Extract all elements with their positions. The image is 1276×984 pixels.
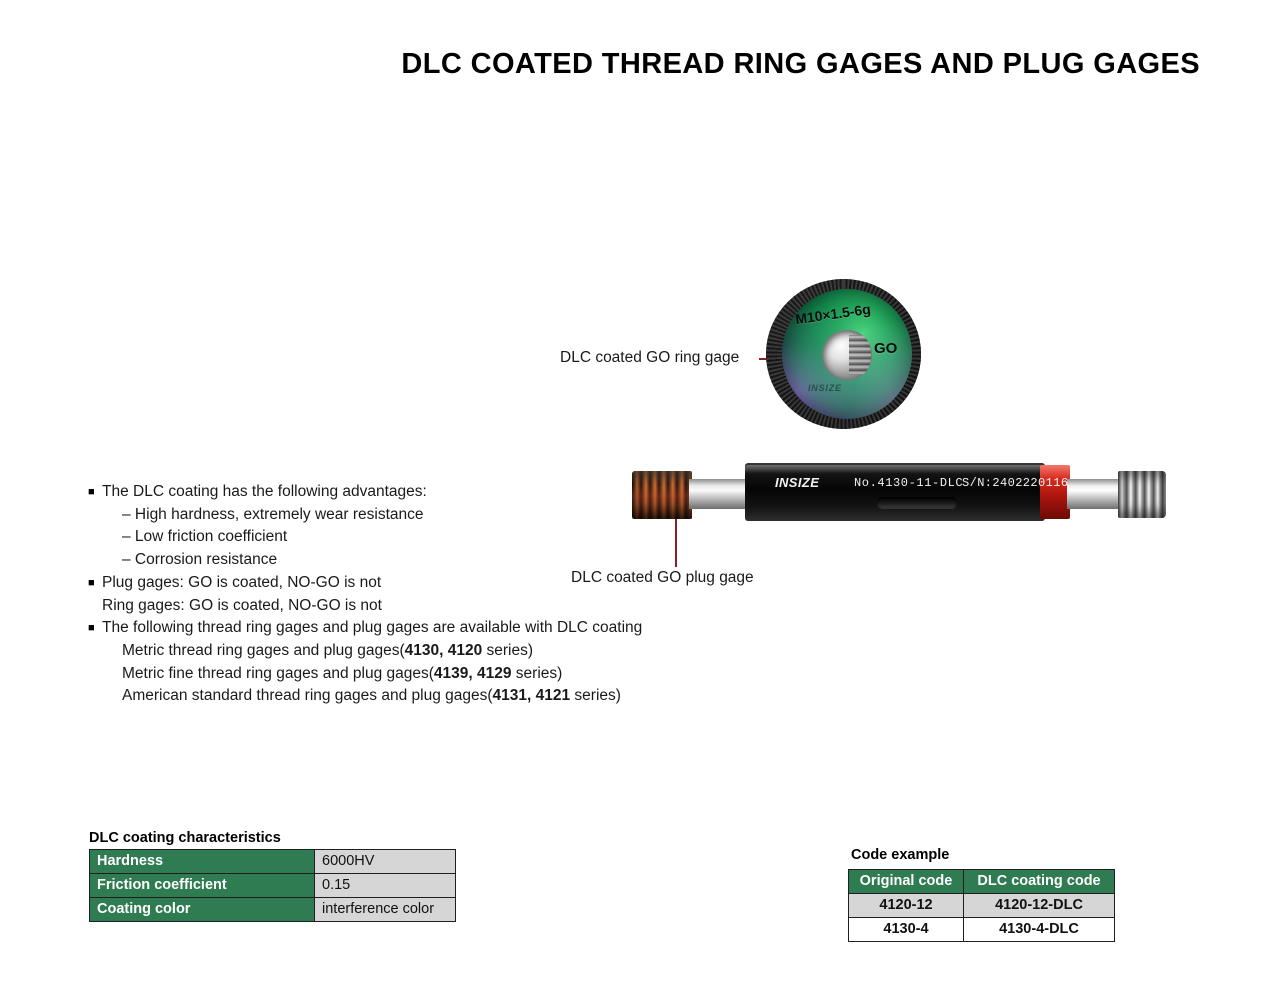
metric-fine-series-post: series) — [512, 665, 563, 682]
table-row: 4120-12 4120-12-DLC — [849, 894, 1115, 918]
feature-ring-gages-coating: Ring gages: GO is coated, NO-GO is not — [102, 595, 708, 618]
metric-series-pre: Metric thread ring gages and plug gages( — [122, 642, 405, 659]
list-item: ■ The following thread ring gages and pl… — [88, 617, 708, 640]
page-title: DLC COATED THREAD RING GAGES AND PLUG GA… — [0, 48, 1200, 81]
metric-fine-series-pre: Metric fine thread ring gages and plug g… — [122, 665, 434, 682]
metric-fine-series-codes: 4139, 4129 — [434, 665, 512, 682]
characteristic-label: Hardness — [90, 850, 315, 874]
list-item: Metric fine thread ring gages and plug g… — [88, 663, 708, 686]
list-item: – Low friction coefficient — [88, 526, 708, 549]
code-example-table: Original code DLC coating code 4120-12 4… — [848, 869, 1115, 942]
square-bullet-icon: ■ — [88, 481, 102, 504]
table-row: Hardness 6000HV — [90, 850, 456, 874]
list-item: – High hardness, extremely wear resistan… — [88, 504, 708, 527]
feature-high-hardness: – High hardness, extremely wear resistan… — [102, 504, 708, 527]
feature-american-series: American standard thread ring gages and … — [102, 685, 708, 708]
characteristic-value: 0.15 — [315, 874, 456, 898]
dlc-code-value: 4130-4-DLC — [964, 918, 1115, 942]
plug-gage-nogo-shank — [1067, 479, 1122, 509]
characteristics-table-caption: DLC coating characteristics — [89, 830, 281, 846]
list-item: Ring gages: GO is coated, NO-GO is not — [88, 595, 708, 618]
ring-gage-go-marking: GO — [874, 340, 897, 357]
feature-metric-series: Metric thread ring gages and plug gages(… — [102, 640, 708, 663]
dlc-code-value: 4120-12-DLC — [964, 894, 1115, 918]
square-bullet-icon: ■ — [88, 572, 102, 595]
ring-gage-brand-logo: INSIZE — [808, 383, 842, 393]
callout-label-plug-gage: DLC coated GO plug gage — [571, 569, 754, 587]
code-example-table-caption: Code example — [851, 847, 949, 863]
metric-series-codes: 4130, 4120 — [405, 642, 483, 659]
metric-series-post: series) — [482, 642, 533, 659]
plug-gage-serial-number: S/N:2402220116 — [962, 476, 1068, 490]
product-photo-ring-gage: M10×1.5-6g GO INSIZE — [766, 279, 921, 429]
characteristic-label: Friction coefficient — [90, 874, 315, 898]
original-code-value: 4120-12 — [849, 894, 964, 918]
plug-gage-handle-highlight — [745, 465, 1045, 474]
product-photo-plug-gage: INSIZE No.4130-11-DLC S/N:2402220116 — [632, 452, 1167, 527]
feature-advantages-intro: The DLC coating has the following advant… — [102, 481, 708, 504]
plug-gage-nogo-threaded-end — [1118, 471, 1166, 518]
plug-gage-model-code: No.4130-11-DLC — [854, 476, 963, 490]
dlc-characteristics-table: Hardness 6000HV Friction coefficient 0.1… — [89, 849, 456, 922]
feature-low-friction: – Low friction coefficient — [102, 526, 708, 549]
characteristic-label: Coating color — [90, 898, 315, 922]
list-item: ■ The DLC coating has the following adva… — [88, 481, 708, 504]
table-row: Coating color interference color — [90, 898, 456, 922]
ring-gage-threaded-bore — [822, 330, 872, 380]
characteristic-value: 6000HV — [315, 850, 456, 874]
column-header-dlc-code: DLC coating code — [964, 870, 1115, 894]
american-series-post: series) — [570, 687, 621, 704]
plug-gage-brand-logo: INSIZE — [775, 475, 819, 490]
square-bullet-icon: ■ — [88, 617, 102, 640]
list-item: Metric thread ring gages and plug gages(… — [88, 640, 708, 663]
plug-gage-go-shank — [689, 479, 749, 509]
american-series-pre: American standard thread ring gages and … — [122, 687, 493, 704]
feature-metric-fine-series: Metric fine thread ring gages and plug g… — [102, 663, 708, 686]
table-row: Friction coefficient 0.15 — [90, 874, 456, 898]
list-item: American standard thread ring gages and … — [88, 685, 708, 708]
plug-gage-red-collar — [1040, 465, 1070, 519]
feature-list: ■ The DLC coating has the following adva… — [88, 481, 708, 708]
characteristic-value: interference color — [315, 898, 456, 922]
column-header-original-code: Original code — [849, 870, 964, 894]
table-header-row: Original code DLC coating code — [849, 870, 1115, 894]
original-code-value: 4130-4 — [849, 918, 964, 942]
plug-gage-go-threaded-end — [632, 471, 692, 519]
american-series-codes: 4131, 4121 — [493, 687, 571, 704]
feature-available-series-intro: The following thread ring gages and plug… — [102, 617, 708, 640]
callout-label-ring-gage: DLC coated GO ring gage — [560, 349, 739, 367]
plug-gage-handle-slot — [877, 497, 957, 508]
table-row: 4130-4 4130-4-DLC — [849, 918, 1115, 942]
